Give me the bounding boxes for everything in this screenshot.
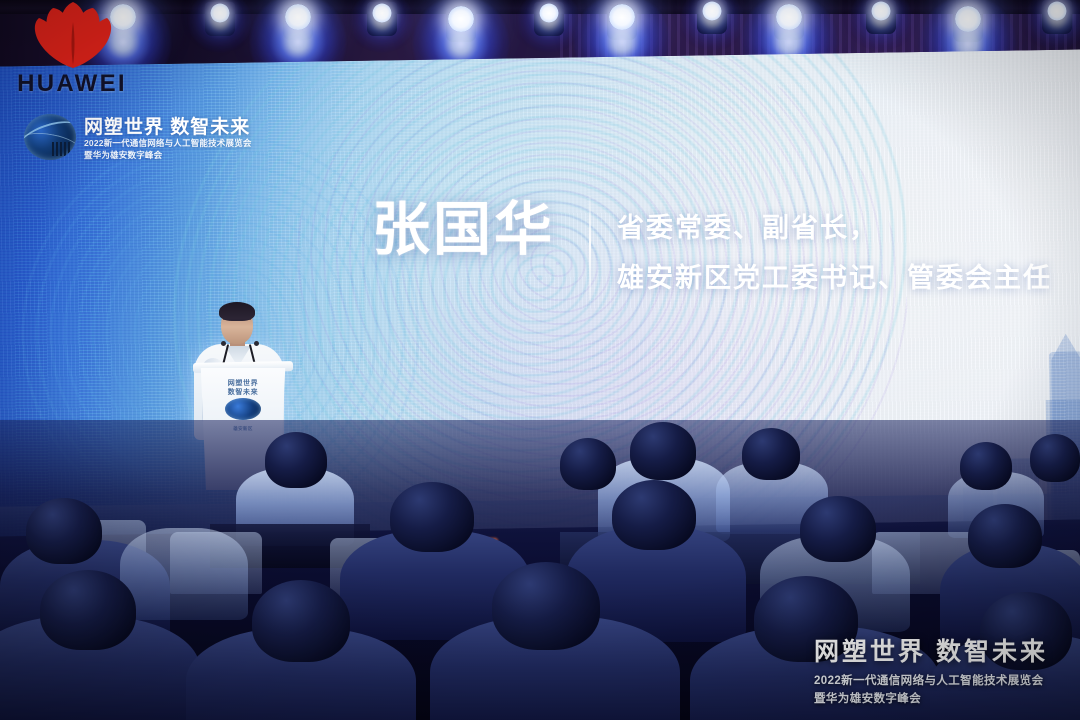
audience-member-back-5-head xyxy=(1030,434,1080,482)
audience-member-front-1-head xyxy=(40,570,136,650)
audience-member-back-3-head xyxy=(742,428,800,480)
event-logo-subtitle-2: 暨华为雄安数字峰会 xyxy=(84,149,162,161)
huawei-wordmark: HUAWEI xyxy=(12,70,132,98)
stage-light-2 xyxy=(205,0,235,36)
speaker-title-line-2: 雄安新区党工委书记、管委会主任 xyxy=(617,253,1052,303)
stage-light-bulb xyxy=(955,6,981,32)
watermark: 网塑世界 数智未来 2022新一代通信网络与人工智能技术展览会 暨华为雄安数字峰… xyxy=(814,632,1064,706)
event-logo: 网塑世界 数智未来 2022新一代通信网络与人工智能技术展览会 暨华为雄安数字峰… xyxy=(24,112,304,168)
audience-member-back-4-head xyxy=(960,442,1012,490)
event-logo-subtitle-1: 2022新一代通信网络与人工智能技术展览会 xyxy=(84,137,252,149)
stage-light-bulb xyxy=(776,4,802,30)
speaker-name: 张国华 xyxy=(372,201,555,259)
stage-light-bulb xyxy=(1048,2,1067,21)
audience-member-back-2-head xyxy=(630,422,696,480)
watermark-title: 网塑世界 数智未来 xyxy=(814,632,1064,668)
stage-light-5 xyxy=(446,0,476,42)
audience-member-mid-5-head xyxy=(800,496,876,562)
audience-member-mid-3-head xyxy=(390,482,474,552)
stage-light-12 xyxy=(1042,0,1072,34)
stage-light-bulb xyxy=(609,4,635,30)
stage-light-8 xyxy=(697,0,727,34)
stage-light-bulb xyxy=(448,6,474,32)
emblem-crowd-figures xyxy=(52,142,70,156)
stage-light-3 xyxy=(283,0,313,40)
huawei-flower-icon xyxy=(30,2,116,68)
event-logo-title: 网塑世界 数智未来 xyxy=(84,112,250,139)
audience-member-back-6-head xyxy=(560,438,616,490)
name-title-divider xyxy=(589,196,591,300)
podium-text-line-2: 数智未来 xyxy=(199,387,287,397)
stage-light-10 xyxy=(866,0,896,34)
speaker-title-block: 省委常委、副省长， 雄安新区党工委书记、管委会主任 xyxy=(617,203,1052,303)
stage-light-bulb xyxy=(373,4,392,23)
stage-light-6 xyxy=(534,0,564,36)
audience-member-front-3-head xyxy=(492,562,600,650)
audience-member-mid-2-body xyxy=(120,528,248,620)
stage-light-bulb xyxy=(703,2,722,21)
stage-light-bulb xyxy=(872,2,891,21)
stage-light-7 xyxy=(607,0,637,40)
stage-light-9 xyxy=(774,0,804,40)
huawei-logo: HUAWEI xyxy=(12,2,132,106)
speaker-glasses xyxy=(223,319,251,325)
speaker-title-line-1: 省委常委、副省长， xyxy=(617,203,1052,253)
stage-photo-scene: HUAWEI 网塑世界 数智未来 2022新一代通信网络与人工智能技术展览会 暨… xyxy=(0,0,1080,720)
microphone-head-right xyxy=(254,341,259,346)
microphone-head-left xyxy=(221,341,226,346)
audience-member-mid-1-head xyxy=(26,498,102,564)
audience-member-back-1-head xyxy=(265,432,327,488)
stage-light-11 xyxy=(953,0,983,42)
stage-light-4 xyxy=(367,0,397,36)
stage-light-bulb xyxy=(285,4,311,30)
stage-light-bulb xyxy=(211,4,230,23)
audience-member-front-2-head xyxy=(252,580,350,662)
watermark-subtitle-1: 2022新一代通信网络与人工智能技术展览会 xyxy=(814,672,1064,688)
podium-emblem-icon xyxy=(225,398,261,420)
watermark-subtitle-2: 暨华为雄安数字峰会 xyxy=(814,690,1064,706)
stage-light-bulb xyxy=(540,4,559,23)
audience-member-mid-4-head xyxy=(612,480,696,550)
event-emblem-icon xyxy=(24,114,76,160)
audience-member-mid-6-head xyxy=(968,504,1042,568)
